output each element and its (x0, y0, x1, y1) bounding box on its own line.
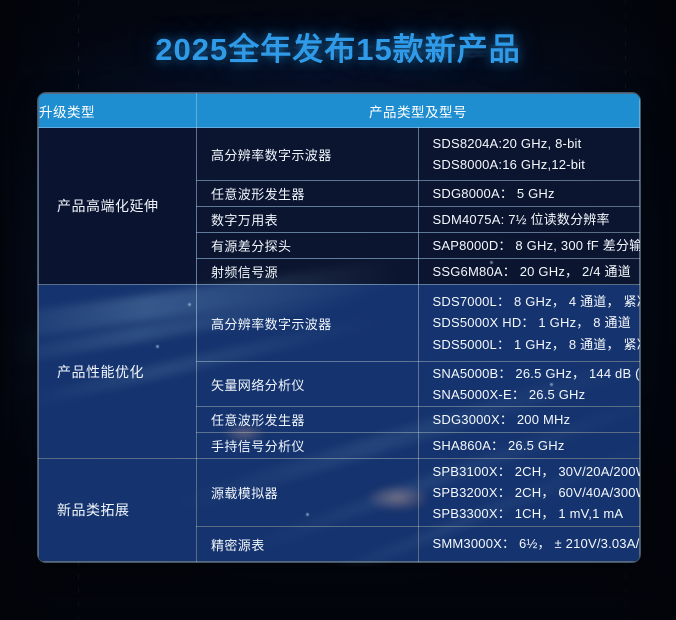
product-kind-label: 手持信号分析仪 (211, 439, 305, 454)
product-model-line: SDS5000X HD： 1 GHz， 8 通道 (433, 312, 640, 333)
column-header-upgrade-type: 升级类型 (39, 94, 197, 128)
product-kind-cell: 高分辨率数字示波器 (197, 128, 419, 181)
section-category-label: 新品类拓展 (57, 502, 130, 518)
table-body: 产品高端化延伸 高分辨率数字示波器 SDS8204A:20 GHz, 8-bit… (39, 128, 640, 562)
product-kind-label: 矢量网络分析仪 (211, 378, 305, 393)
product-kind-cell: 任意波形发生器 (197, 181, 419, 207)
product-model-line: SSG6M80A： 20 GHz， 2/4 通道 (433, 261, 640, 282)
product-kind-label: 有源差分探头 (211, 239, 291, 254)
product-kind-cell: 手持信号分析仪 (197, 433, 419, 459)
product-kind-cell: 源载模拟器 (197, 459, 419, 527)
product-model-line: SPB3100X： 2CH， 30V/20A/200W (433, 461, 640, 482)
page-title: 2025全年发布15款新产品 (0, 24, 676, 69)
product-kind-cell: 任意波形发生器 (197, 407, 419, 433)
section-category-cell: 产品高端化延伸 (39, 128, 197, 285)
product-kind-cell: 精密源表 (197, 527, 419, 562)
product-models-cell: SDG8000A： 5 GHz (418, 181, 640, 207)
product-models-cell: SPB3100X： 2CH， 30V/20A/200W SPB3200X： 2C… (418, 459, 640, 527)
product-model-line: SHA860A： 26.5 GHz (433, 435, 640, 456)
table-header-row: 升级类型 产品类型及型号 (39, 94, 640, 128)
section-category-cell: 新品类拓展 (39, 459, 197, 562)
product-models-cell: SDS8204A:20 GHz, 8-bit SDS8000A:16 GHz,1… (418, 128, 640, 181)
product-kind-cell: 射频信号源 (197, 259, 419, 285)
product-kind-label: 高分辨率数字示波器 (211, 317, 332, 332)
product-kind-label: 射频信号源 (211, 265, 278, 280)
product-kind-label: 精密源表 (211, 538, 265, 553)
product-models-cell: SAP8000D： 8 GHz, 300 fF 差分输入电容 (418, 233, 640, 259)
product-kind-cell: 数字万用表 (197, 207, 419, 233)
product-model-line: SDS8000A:16 GHz,12-bit (433, 154, 640, 175)
product-kind-label: 任意波形发生器 (211, 413, 305, 428)
product-models-cell: SHA860A： 26.5 GHz (418, 433, 640, 459)
product-model-line: SDS8204A:20 GHz, 8-bit (433, 133, 640, 154)
column-header-product-type-and-model: 产品类型及型号 (197, 94, 640, 128)
product-model-line: SPB3300X： 1CH， 1 mV,1 mA (433, 503, 640, 524)
section-category-label: 产品高端化延伸 (57, 198, 159, 214)
product-model-line: SPB3200X： 2CH， 60V/40A/300W (433, 482, 640, 503)
product-model-line: SDG3000X： 200 MHz (433, 409, 640, 430)
product-model-line: SDG8000A： 5 GHz (433, 183, 640, 204)
table-row: 新品类拓展 源载模拟器 SPB3100X： 2CH， 30V/20A/200W … (39, 459, 640, 527)
product-model-line: SNA5000X-E： 26.5 GHz (433, 384, 640, 405)
product-model-line: SDS5000L： 1 GHz， 8 通道， 紧凑型 (433, 334, 640, 355)
product-spec-table-container: 升级类型 产品类型及型号 产品高端化延伸 高分辨率数字示波器 SDS8204A:… (38, 93, 640, 562)
table-row: 产品性能优化 高分辨率数字示波器 SDS7000L： 8 GHz， 4 通道， … (39, 285, 640, 362)
section-category-label: 产品性能优化 (57, 364, 144, 380)
product-model-line: SDM4075A: 7½ 位读数分辨率 (433, 209, 640, 230)
product-models-cell: SDG3000X： 200 MHz (418, 407, 640, 433)
product-kind-label: 任意波形发生器 (211, 187, 305, 202)
product-models-cell: SNA5000B： 26.5 GHz， 144 dB (typ) SNA5000… (418, 362, 640, 407)
product-kind-cell: 矢量网络分析仪 (197, 362, 419, 407)
product-kind-label: 源载模拟器 (211, 486, 278, 501)
section-category-cell: 产品性能优化 (39, 285, 197, 459)
product-kind-label: 数字万用表 (211, 213, 278, 228)
product-model-line: SMM3000X： 6½， ± 210V/3.03A/31.8W (433, 533, 640, 554)
product-kind-cell: 高分辨率数字示波器 (197, 285, 419, 362)
product-model-line: SDS7000L： 8 GHz， 4 通道， 紧凑型 (433, 291, 640, 312)
product-models-cell: SSG6M80A： 20 GHz， 2/4 通道 (418, 259, 640, 285)
product-models-cell: SDM4075A: 7½ 位读数分辨率 (418, 207, 640, 233)
product-spec-table: 升级类型 产品类型及型号 产品高端化延伸 高分辨率数字示波器 SDS8204A:… (38, 93, 640, 562)
product-models-cell: SMM3000X： 6½， ± 210V/3.03A/31.8W (418, 527, 640, 562)
product-kind-cell: 有源差分探头 (197, 233, 419, 259)
table-header: 升级类型 产品类型及型号 (39, 94, 640, 128)
product-model-line: SNA5000B： 26.5 GHz， 144 dB (typ) (433, 363, 640, 384)
product-kind-label: 高分辨率数字示波器 (211, 148, 332, 163)
table-row: 产品高端化延伸 高分辨率数字示波器 SDS8204A:20 GHz, 8-bit… (39, 128, 640, 181)
product-model-line: SAP8000D： 8 GHz, 300 fF 差分输入电容 (433, 235, 640, 256)
product-models-cell: SDS7000L： 8 GHz， 4 通道， 紧凑型 SDS5000X HD： … (418, 285, 640, 362)
